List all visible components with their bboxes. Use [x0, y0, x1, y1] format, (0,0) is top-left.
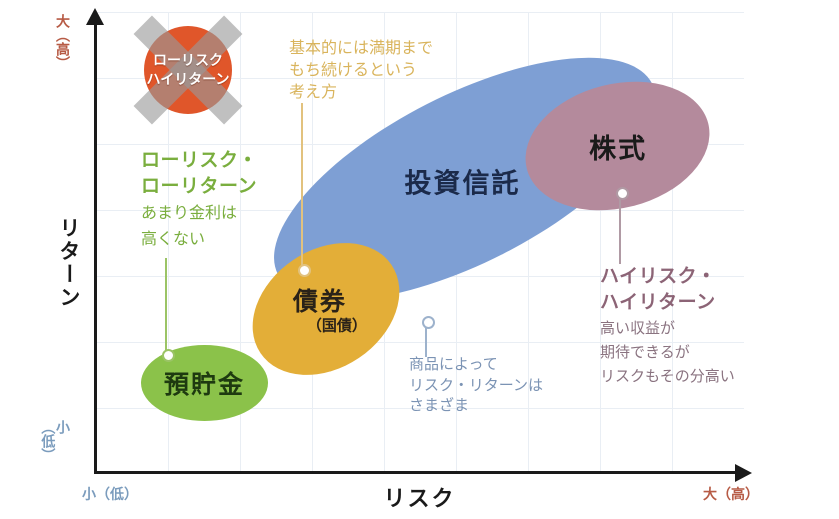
x-axis-line [94, 471, 742, 474]
annotation-low-risk-low-return: ローリスク・ ローリターン あまり金利は 高くない [141, 148, 258, 251]
annotation-varies-line2: リスク・リターンは [409, 376, 543, 397]
bubble-bonds-sublabel: （国債） [307, 314, 367, 335]
annotation-high-risk-head-line2: ハイリターン [600, 290, 735, 316]
annotation-varies-line1: 商品によって [409, 355, 543, 376]
impossible-marker-line2: ハイリターン [146, 70, 229, 89]
leader-line-high-risk-endpoint [616, 187, 629, 200]
bubble-deposits-label: 預貯金 [164, 365, 245, 401]
y-axis-arrow-icon [86, 8, 104, 25]
leader-line-varies-endpoint [422, 316, 435, 329]
y-axis-title: リターン [46, 188, 80, 338]
annotation-high-risk-body-line2: 期待できるが [600, 343, 735, 364]
bubble-stocks-label: 株式 [589, 127, 647, 166]
leader-line-low-risk-stem [165, 258, 167, 354]
annotation-hold-to-maturity: 基本的には満期まで もち続けるという 考え方 [289, 38, 433, 104]
impossible-combination-marker: ローリスク ハイリターン [136, 18, 240, 122]
leader-line-maturity-stem [301, 103, 303, 269]
leader-line-maturity-endpoint [298, 264, 311, 277]
annotation-low-risk-head-line2: ローリターン [141, 174, 258, 200]
impossible-marker-line1: ローリスク [153, 51, 223, 70]
annotation-low-risk-body-line1: あまり金利は [141, 203, 258, 225]
y-axis-line [94, 22, 97, 474]
y-axis-low-caption: 小（低） [48, 420, 70, 466]
annotation-maturity-line1: 基本的には満期まで [289, 38, 433, 60]
leader-line-low-risk-endpoint [162, 349, 175, 362]
bubble-investment-funds-label: 投資信託 [404, 161, 520, 200]
y-axis-high-caption: 大（高） [48, 14, 70, 70]
annotation-varies-line3: さまざま [409, 396, 543, 417]
annotation-high-risk-high-return: ハイリスク・ ハイリターン 高い収益が 期待できるが リスクもその分高い [600, 264, 735, 388]
annotation-high-risk-head-line1: ハイリスク・ [600, 264, 735, 290]
bubble-bonds-label: 債券 [293, 281, 347, 317]
bubble-deposits[interactable]: 預貯金 [141, 345, 268, 421]
x-axis-low-caption: 小（低） [82, 487, 138, 502]
annotation-low-risk-body-line2: 高くない [141, 229, 258, 251]
annotation-high-risk-body-line3: リスクもその分高い [600, 367, 735, 388]
leader-line-high-risk-stem [619, 192, 621, 264]
annotation-high-risk-body-line1: 高い収益が [600, 319, 735, 340]
risk-return-diagram: リターン リスク 大（高） 小（低） 小（低） 大（高） 投資信託 株式 債券 … [0, 0, 839, 519]
annotation-maturity-line2: もち続けるという [289, 60, 433, 82]
annotation-varies-by-product: 商品によって リスク・リターンは さまざま [409, 355, 543, 417]
annotation-maturity-line3: 考え方 [289, 82, 433, 104]
impossible-marker-text: ローリスク ハイリターン [136, 18, 240, 122]
x-axis-arrow-icon [735, 464, 752, 482]
x-axis-high-caption: 大（高） [703, 487, 759, 502]
annotation-low-risk-head-line1: ローリスク・ [141, 148, 258, 174]
